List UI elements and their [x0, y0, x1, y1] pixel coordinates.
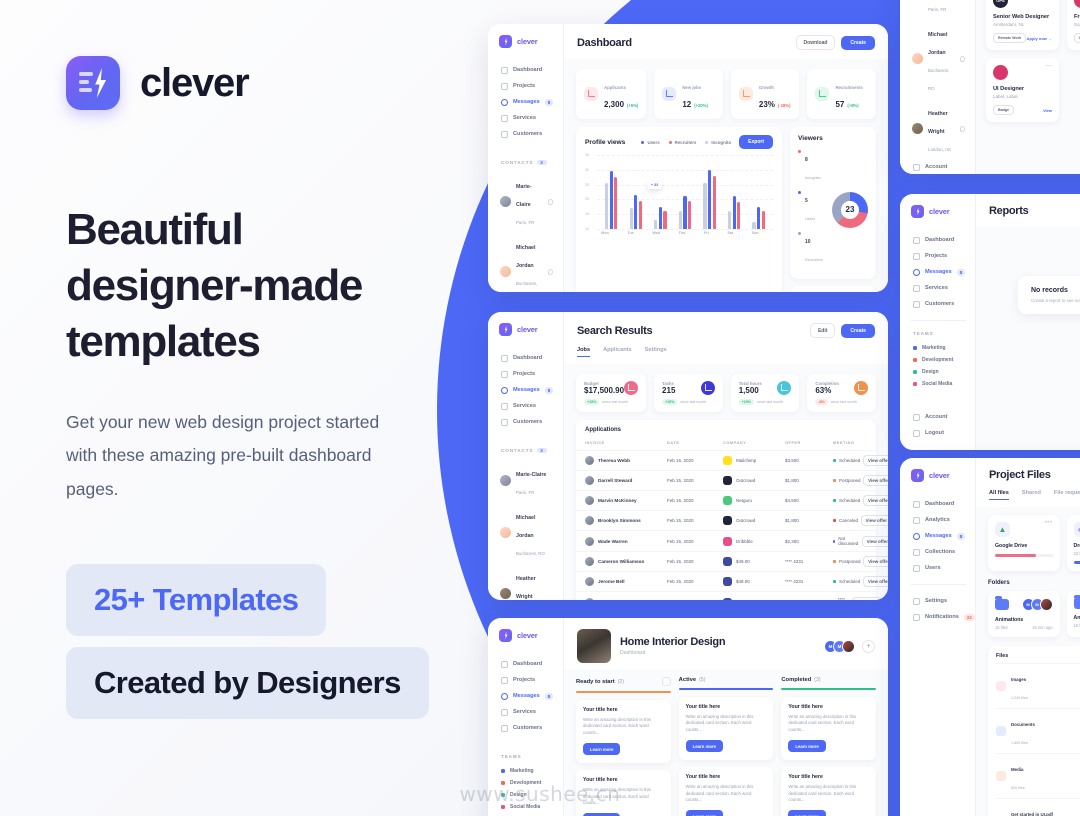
avatar [585, 456, 594, 465]
y-tick: 30 [585, 168, 589, 172]
table-row[interactable]: Theresa WebbFeb 15, 2020Mailchimp$3,500S… [576, 450, 876, 470]
cell-meeting: Scheduled [833, 498, 860, 503]
more-icon[interactable]: ••• [1045, 522, 1053, 537]
cell-meeting: Scheduled [833, 579, 860, 584]
column-invoice: INVOICE [585, 441, 667, 445]
tab-file-requests[interactable]: File requests [1054, 490, 1080, 500]
sidebar-item-logout[interactable]: Logout [911, 425, 966, 441]
file-row[interactable]: Media520 files [996, 753, 1080, 798]
learn-more-button[interactable]: Learn more [686, 740, 723, 752]
donut-center-value: 23 [832, 192, 868, 228]
learn-more-button[interactable]: Learn more [583, 743, 620, 755]
column-company: COMPANY [723, 441, 785, 445]
home-icon [501, 661, 508, 668]
stat-delta: (+5%) [627, 103, 638, 108]
sidebar-item-projects[interactable]: Projects [499, 78, 554, 94]
header-actions: Download Create [796, 35, 875, 50]
sidebar-logo[interactable]: clever [499, 323, 554, 336]
table-row[interactable]: Marvin McKinneyFeb 15, 2020Netguru$4,500… [576, 490, 876, 510]
home-icon [913, 501, 920, 508]
cell-action[interactable]: View offer [860, 498, 888, 503]
cell-meeting: Scheduled [833, 458, 860, 463]
cell-action[interactable]: View offer [859, 539, 888, 544]
users-icon [501, 419, 508, 426]
users-icon [501, 725, 508, 732]
reports-title: Reports [989, 205, 1028, 217]
sidebar-item-projects[interactable]: Projects [499, 672, 554, 688]
card-description: Write an amazing description in this ded… [788, 784, 869, 805]
folder-icon [913, 253, 920, 260]
card-title: Your title here [788, 704, 869, 710]
bell-icon [913, 614, 920, 621]
contact-location: Bucharest, RO [516, 281, 537, 293]
briefcase-icon [913, 285, 920, 292]
job-tag: Internship [1074, 33, 1080, 43]
more-icon[interactable]: — [1046, 65, 1053, 80]
file-row[interactable]: Images1.240 files [996, 663, 1080, 708]
home-icon [501, 67, 508, 74]
cell-company: $49.00 [723, 577, 785, 586]
avatar [585, 537, 594, 546]
column-title: Ready to start [576, 679, 615, 685]
card-title: Your title here [788, 774, 869, 780]
cell-invoice: Darrell Steward [585, 476, 667, 485]
kanban-card[interactable]: Your title hereWrite an amazing descript… [781, 767, 876, 816]
job-card[interactable]: OPS—Senior Web DesignerAmsterdam, NLRemo… [986, 0, 1059, 50]
contacts-caption: CONTACTS3 [501, 160, 554, 165]
file-row[interactable]: Get started in UI.pdfDocument [996, 798, 1080, 816]
sidebar-item-dashboard[interactable]: Dashboard [499, 656, 554, 672]
column-count: (5) [699, 677, 705, 683]
add-member-button[interactable]: + [862, 640, 875, 653]
cell-action[interactable]: View offer [861, 478, 888, 483]
cell-action[interactable]: View offer [861, 559, 888, 564]
learn-more-button[interactable]: Learn more [788, 810, 825, 816]
search-header: Search Results Edit Create [564, 312, 888, 347]
kanban-column-active: Active(5) Your title hereWrite an amazin… [679, 677, 774, 816]
breadcrumb: Dashboard [620, 650, 725, 656]
stat-card-new-jobs[interactable]: New jobs12(+20%) [654, 69, 723, 119]
chart-title: Profile views [585, 139, 625, 146]
sidebar-item-dashboard[interactable]: Dashboard [499, 62, 554, 78]
card-description: Write an amazing description in this ded… [686, 714, 767, 735]
search-content: Budget$17,500.90+15%since last month Tas… [564, 364, 888, 600]
sidebar-item-messages[interactable]: Messages8 [499, 382, 554, 398]
sidebar-item-label: Customers [513, 131, 542, 137]
user-icon [913, 414, 920, 421]
job-location: Amsterdam, NL [993, 22, 1052, 27]
column-meeting: MEETING [833, 441, 855, 445]
badge-templates: 25+ Templates [66, 564, 326, 636]
file-row[interactable]: Documents1.800 files [996, 708, 1080, 753]
sidebar-item-services[interactable]: Services [499, 398, 554, 414]
cell-action[interactable]: View offer [860, 458, 888, 463]
search-sidebar: clever Dashboard Projects Messages8 Serv… [488, 312, 564, 600]
contact-item[interactable]: Michael JordanBucharest, RO [499, 232, 554, 292]
stat-value: 57 [835, 100, 844, 109]
card-title: Your title here [583, 707, 664, 713]
sidebar-item-dashboard[interactable]: Dashboard [499, 350, 554, 366]
cell-offer: $1,800 [785, 518, 833, 523]
contact-item[interactable]: Michael JordanBucharest, RO [499, 502, 554, 563]
cell-invoice: Bessie Cooper [585, 598, 667, 601]
sidebar-brand-name: clever [517, 631, 538, 640]
sidebar-item-users[interactable]: Users [911, 560, 966, 576]
card-description: Write an amazing description in this ded… [583, 717, 664, 738]
column-title: Completed [781, 677, 811, 683]
sidebar-brand-name: clever [517, 37, 538, 46]
page-title: Beautiful designer-made templates [66, 202, 416, 370]
folder-name: Animations [1074, 615, 1080, 621]
profile-views-chart[interactable]: Profile views Users Recruiters Incognito… [576, 127, 782, 292]
cell-date: Feb 15, 2020 [667, 518, 723, 523]
chart-header: Profile views Users Recruiters Incognito… [576, 127, 782, 151]
edit-button[interactable]: Edit [810, 323, 835, 338]
cell-invoice: Cameron Williamson [585, 557, 667, 566]
learn-more-button[interactable]: Learn more [686, 810, 723, 816]
chat-icon [501, 99, 508, 106]
x-tick: Fri [704, 231, 709, 235]
brand-name: clever [140, 61, 248, 106]
service-card-google-drive[interactable]: ▲••• Google Drive [988, 515, 1060, 571]
chat-icon[interactable] [960, 126, 965, 132]
stat-card-completion[interactable]: Completion63%-8%since last month [807, 374, 876, 412]
clever-logo-icon [66, 56, 120, 110]
legend-recruiters: Recruiters [669, 140, 697, 145]
service-card-dropbox[interactable]: ◈••• Dropbox 23.5 GB [1067, 515, 1080, 571]
avatar [585, 557, 594, 566]
clever-logo-icon [499, 323, 512, 336]
sidebar-item-dashboard[interactable]: Dashboard [911, 496, 966, 512]
service-name: Google Drive [995, 543, 1053, 549]
stat-value: 23% [759, 100, 775, 109]
sidebar-item-collections[interactable]: Collections [911, 544, 966, 560]
avatar [585, 496, 594, 505]
x-tick: Thu [679, 231, 686, 235]
cell-action[interactable]: View offer [858, 518, 888, 523]
avatar [500, 266, 511, 277]
marketing-column: clever Beautiful designer-made templates… [0, 0, 460, 816]
files-content: ▲••• Google Drive ◈••• Dropbox 23.5 GB F… [976, 507, 1080, 816]
bar-group [679, 155, 691, 229]
search-title: Search Results [577, 325, 652, 337]
cell-invoice: Jerome Bell [585, 577, 667, 586]
tab-jobs[interactable]: Jobs [577, 347, 590, 357]
sidebar-item-account[interactable]: Account [911, 409, 966, 425]
sidebar-item-customers[interactable]: Customers [499, 126, 554, 142]
more-icon[interactable]: — [1046, 0, 1053, 8]
jobs-mockup[interactable]: CONTACTS3 Marie-ClaireParis, FR Michael … [900, 0, 1080, 174]
cell-offer: **** 4231 [785, 579, 833, 584]
viewers-title: Viewers [798, 135, 868, 142]
cell-offer: **** 4231 [785, 600, 833, 601]
cell-date: Feb 15, 2020 [667, 559, 723, 564]
contact-item[interactable]: Michael JordanBucharest, RO [911, 19, 966, 98]
subscribe-card: Subscribe Follow your statistics. [790, 286, 876, 292]
viewers-card[interactable]: Viewers 8Incognito 5Users 10Recruiters 2… [790, 127, 876, 279]
contact-item[interactable]: Heather WrightLondon, UK [499, 563, 554, 600]
sidebar-item-account[interactable]: Account [911, 159, 966, 174]
notifications-badge: 22 [964, 614, 975, 621]
y-tick: 35 [585, 153, 589, 157]
reports-header: Reports [976, 194, 1080, 226]
stat-chip: +15% [584, 399, 599, 405]
viewers-legend-item: 10Recruiters [798, 230, 832, 266]
cell-company: $49.00 [723, 557, 785, 566]
dashboard-header: Dashboard Download Create [564, 24, 888, 59]
chat-icon [501, 387, 508, 394]
contacts-count: 3 [537, 160, 546, 165]
users-icon [501, 131, 508, 138]
chat-icon[interactable] [548, 269, 553, 275]
chart-legend: Users Recruiters Incognito [641, 140, 731, 145]
contact-item[interactable]: Marie-ClaireParis, FR [499, 459, 554, 502]
sidebar-logo[interactable]: clever [911, 205, 966, 218]
dropbox-icon: ◈ [1074, 522, 1080, 537]
sidebar-item-services[interactable]: Services [499, 110, 554, 126]
cell-meeting: Not discussed [833, 536, 859, 546]
files-list-panel: Files Images1.240 filesDocuments1.800 fi… [988, 646, 1080, 816]
x-tick: Tue [627, 231, 633, 235]
folder-card[interactable]: Animations 15 files [1067, 591, 1080, 637]
avatar [585, 476, 594, 485]
stat-chip: +15% [739, 399, 754, 405]
briefcase-icon [501, 709, 508, 716]
stat-delta: (+8%) [847, 103, 858, 108]
column-date: DATE [667, 441, 723, 445]
tab-shared[interactable]: Shared [1022, 490, 1041, 500]
table-row[interactable]: Wade WarrenFeb 15, 2020Dribbble$2,300Not… [576, 530, 876, 551]
stat-card-tasks[interactable]: Tasks215+15%since last month [654, 374, 723, 412]
messages-badge: 8 [545, 99, 554, 106]
storage-progress [1074, 561, 1080, 564]
tab-applicants[interactable]: Applicants [603, 347, 632, 357]
bar-group [703, 155, 715, 229]
folder-count: 15 files [995, 625, 1008, 630]
cell-company: Netguru [723, 496, 785, 505]
sidebar-logo[interactable]: clever [499, 35, 554, 48]
kanban-card[interactable]: Your title hereWrite an amazing descript… [781, 697, 876, 760]
folder-icon [501, 677, 508, 684]
cell-company: Outcrowd [723, 516, 785, 525]
tab-settings[interactable]: Settings [645, 347, 667, 357]
avatar [500, 588, 511, 599]
stat-card-growth[interactable]: Growth23%(-18%) [731, 69, 800, 119]
download-button[interactable]: Download [796, 35, 836, 50]
contact-item[interactable]: Heather WrightLondon, UK [911, 98, 966, 159]
stat-card-total-hours[interactable]: Total hours1,500+15%since last month [731, 374, 800, 412]
lightning-bolt-icon [92, 68, 108, 98]
sidebar-item-notifications[interactable]: Notifications22 [911, 609, 966, 625]
sidebar-item-projects[interactable]: Projects [499, 366, 554, 382]
job-title: Front End [1074, 14, 1080, 20]
sidebar-item-messages[interactable]: Messages8 [911, 264, 966, 280]
sidebar-item-projects[interactable]: Projects [911, 248, 966, 264]
table-row[interactable]: Bessie CooperFeb 15, 2020$49.00**** 4231… [576, 591, 876, 600]
cell-offer: **** 4231 [785, 559, 833, 564]
chart-bars [599, 155, 771, 229]
sidebar-item-dashboard[interactable]: Dashboard [911, 232, 966, 248]
cell-date: Feb 15, 2020 [667, 498, 723, 503]
sidebar-logo[interactable]: clever [499, 629, 554, 642]
folder-meta: 15 min ago [1032, 625, 1052, 630]
hero-badges: 25+ Templates Created by Designers [66, 564, 460, 719]
chat-icon [913, 533, 920, 540]
viewers-legend-item: 8Incognito [798, 148, 832, 184]
kanban-card[interactable]: Your title hereWrite an amazing descript… [679, 697, 774, 760]
sidebar-item-customers[interactable]: Customers [911, 296, 966, 312]
learn-more-button[interactable]: Learn more [788, 740, 825, 752]
cell-date: Feb 15, 2020 [667, 600, 723, 601]
jobs-body: London, UKFull timeApply now → OPS—Senio… [976, 0, 1080, 174]
team-item-marketing[interactable]: Marketing [499, 765, 554, 777]
job-tag: Remote Work [993, 33, 1026, 43]
chat-icon [501, 693, 508, 700]
sidebar-footer: Account Logout [911, 159, 966, 174]
teams-caption: TEAMS [501, 754, 554, 759]
contact-item[interactable]: Marie-ClaireParis, FR [499, 171, 554, 232]
project-files-mockup[interactable]: clever Dashboard Analytics Messages8 Col… [900, 458, 1080, 816]
team-item-social-media[interactable]: Social Media [911, 378, 966, 390]
files-list: Images1.240 filesDocuments1.800 filesMed… [996, 663, 1080, 816]
team-item-marketing[interactable]: Marketing [911, 342, 966, 354]
google-drive-icon: ▲ [995, 522, 1010, 537]
view-link[interactable]: View [1043, 108, 1052, 113]
chat-icon[interactable] [548, 199, 554, 205]
kanban-card[interactable]: Your title hereWrite an amazing descript… [576, 700, 671, 763]
clever-logo-icon [499, 35, 512, 48]
briefcase-icon [501, 115, 508, 122]
sidebar-item-analytics[interactable]: Analytics [911, 512, 966, 528]
x-tick: Sat [727, 231, 733, 235]
sidebar-item-label: Messages [513, 99, 540, 105]
apply-link[interactable]: Apply now → [1027, 36, 1052, 41]
legend-users: Users [641, 140, 659, 145]
y-tick: 25 [585, 183, 589, 187]
gear-icon [913, 598, 920, 605]
clever-logo-icon [911, 205, 924, 218]
sidebar-item-customers[interactable]: Customers [499, 720, 554, 736]
files-tabs: All files Shared File requests [976, 490, 1080, 507]
folder-icon [995, 599, 1009, 610]
sidebar-brand-name: clever [929, 207, 950, 216]
cell-date: Feb 15, 2020 [667, 579, 723, 584]
sidebar-logo[interactable]: clever [911, 469, 966, 482]
card-title: Your title here [686, 774, 767, 780]
user-icon [913, 164, 920, 171]
member-avatars: M M + [828, 640, 875, 653]
clever-logo-icon [911, 469, 924, 482]
sidebar-item-messages[interactable]: Messages8 [911, 528, 966, 544]
applications-table: Applications INVOICE DATE COMPANY OFFER … [576, 420, 876, 600]
job-title: UI Designer [993, 86, 1052, 92]
folder-count: 15 files [1074, 623, 1080, 628]
sidebar-item-messages[interactable]: Messages8 [499, 94, 554, 110]
project-thumbnail [577, 629, 611, 663]
stat-card-budget[interactable]: Budget$17,500.90+15%since last month [576, 374, 646, 412]
avatar [500, 196, 511, 207]
empty-title: No records [1031, 287, 1080, 294]
folder-icon [501, 83, 508, 90]
table-row[interactable]: Cameron WilliamsonFeb 15, 2020$49.00****… [576, 551, 876, 571]
contact-item[interactable]: Marie-ClaireParis, FR [911, 0, 966, 19]
card-title: Your title here [686, 704, 767, 710]
export-button[interactable]: Export [739, 135, 773, 149]
chat-icon[interactable] [960, 56, 965, 62]
sidebar-item-customers[interactable]: Customers [499, 414, 554, 430]
avatar [912, 53, 923, 64]
stat-card-recruitments[interactable]: Recruitments57(+8%) [807, 69, 876, 119]
dashboard-body: Dashboard Download Create Applicants2,30… [564, 24, 888, 292]
table-row[interactable]: Jerome BellFeb 15, 2020$49.00**** 4231Sc… [576, 571, 876, 591]
teams-caption: TEAMS [913, 331, 966, 336]
sidebar-item-messages[interactable]: Messages8 [499, 688, 554, 704]
search-results-mockup[interactable]: clever Dashboard Projects Messages8 Serv… [488, 312, 888, 600]
dashboard-mockup[interactable]: clever Dashboard Projects Messages8 Serv… [488, 24, 888, 292]
column-offer: OFFER [785, 441, 833, 445]
stat-label: Growth [759, 85, 774, 90]
y-tick: 20 [585, 197, 589, 201]
reports-mockup[interactable]: clever Dashboard Projects Messages8 Serv… [900, 194, 1080, 450]
files-list-title: Files [996, 653, 1080, 663]
avatar [585, 516, 594, 525]
contacts-caption: CONTACTS3 [501, 448, 554, 453]
stat-card-applicants[interactable]: Applicants2,300(+5%) [576, 69, 646, 119]
kanban-card[interactable]: Your title hereWrite an amazing descript… [679, 767, 774, 816]
messages-badge: 8 [545, 387, 554, 394]
stat-note: since last month [680, 400, 706, 404]
sidebar-item-settings[interactable]: Settings [911, 593, 966, 609]
viewers-legend-item: 5Users [798, 189, 832, 225]
cell-action[interactable]: View offer [860, 579, 888, 584]
sidebar-item-services[interactable]: Services [499, 704, 554, 720]
table-header: INVOICE DATE COMPANY OFFER MEETING [576, 436, 876, 450]
job-location: Label, Label [993, 94, 1052, 99]
create-button[interactable]: Create [841, 324, 875, 338]
folder-card[interactable]: MM Animations 15 files15 min ago [988, 591, 1060, 637]
cell-meeting: Postponed [833, 559, 861, 564]
team-item-design[interactable]: Design [911, 366, 966, 378]
sidebar-item-services[interactable]: Services [911, 280, 966, 296]
stat-value: 12 [682, 100, 691, 109]
tab-all-files[interactable]: All files [989, 490, 1009, 500]
file-type-icon [996, 681, 1006, 691]
sidebar-brand-name: clever [929, 471, 950, 480]
search-stat-cards: Budget$17,500.90+15%since last month Tas… [576, 374, 876, 412]
cell-offer: $1,800 [785, 478, 833, 483]
table-row[interactable]: Darrell StewardFeb 15, 2020Outcrowd$1,80… [576, 470, 876, 490]
job-card[interactable]: —UI DesignerLabel, LabelBadgeView [986, 58, 1059, 122]
cell-meeting: Postponed [833, 478, 861, 483]
column-count: (2) [618, 679, 624, 685]
applications-title: Applications [576, 420, 876, 436]
brand-lockup: clever [66, 56, 460, 110]
x-tick: Mon [601, 231, 609, 235]
team-item-development[interactable]: Development [911, 354, 966, 366]
chevron-down-icon[interactable] [662, 677, 671, 686]
y-tick: 15 [585, 212, 589, 216]
file-type-icon [996, 726, 1006, 736]
create-button[interactable]: Create [841, 36, 875, 50]
sidebar-footer: Account Logout [911, 409, 966, 441]
sidebar-divider [911, 320, 966, 321]
sidebar-brand-name: clever [517, 325, 538, 334]
stat-delta: (+20%) [694, 103, 708, 108]
chart-plot-area: 35 30 25 20 15 10 + 33 [585, 155, 773, 229]
dashboard-sidebar: clever Dashboard Projects Messages8 Serv… [488, 24, 564, 292]
job-card[interactable]: —Front EndScan PropInternship [1067, 0, 1080, 50]
table-row[interactable]: Brooklyn SimmonsFeb 15, 2020Outcrowd$1,8… [576, 510, 876, 530]
